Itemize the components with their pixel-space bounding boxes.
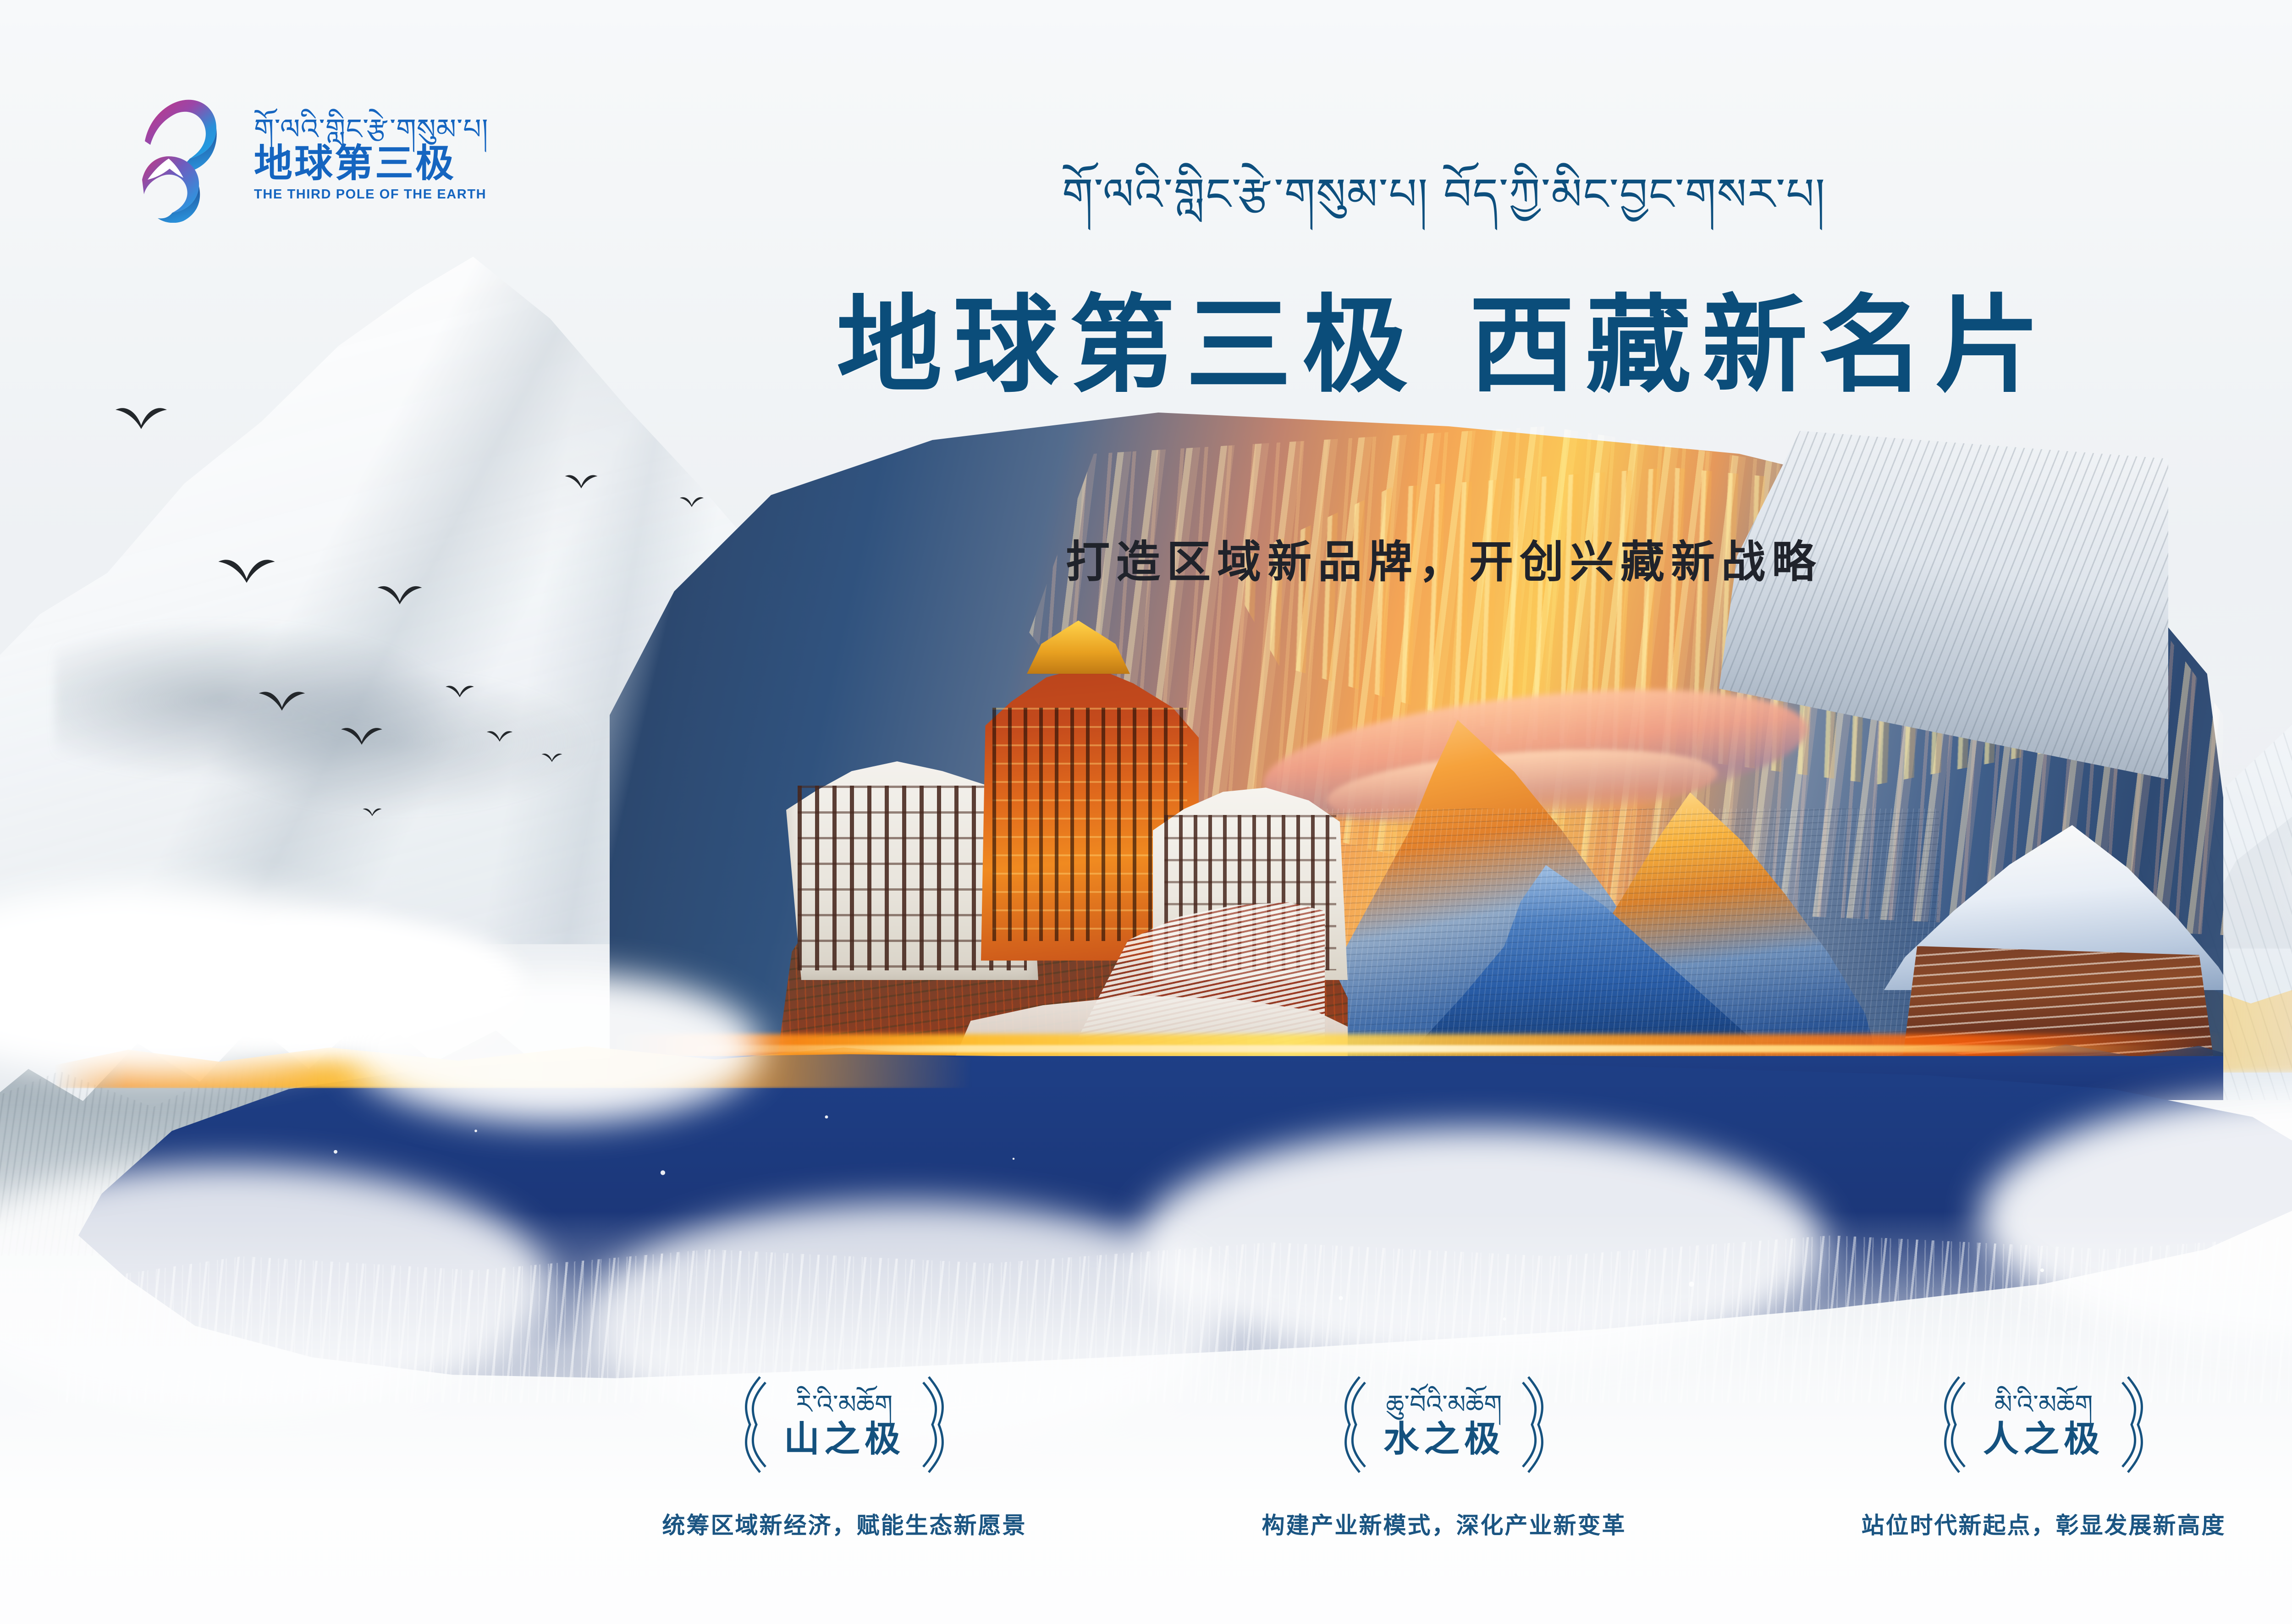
central-photo-collage	[610, 413, 2223, 1100]
cloud-icon	[348, 972, 761, 1123]
pillar-tibetan: མི་འི་མཆོག	[1994, 1392, 2093, 1418]
pillar-description: 站位时代新起点，彰显发展新高度	[1805, 1507, 2282, 1540]
flying-bird-icon	[339, 724, 384, 746]
pillar-chinese: 人之极	[1983, 1421, 2104, 1457]
pillar-description: 构建产业新模式，深化产业新变革	[1206, 1507, 1682, 1540]
wave-bracket-icon	[1326, 1374, 1368, 1475]
pillar-chinese: 水之极	[1383, 1421, 1504, 1457]
headline-tibetan: གོ་ལའི་གླིང་རྩེ་གསུམ་པ། བོད་ཀྱི་མིང་བྱང་…	[0, 145, 2292, 269]
poster-canvas: གོ་ལའི་གླིང་རྩེ་གསུམ་པ། 地球第三极 THE THIRD …	[0, 0, 2292, 1624]
pillar-labels: ཆུ་བོའི་མཆོག 水之极	[1383, 1392, 1504, 1457]
collage-fire-rim-highlight	[674, 1045, 2159, 1052]
pillar-tibetan: རི་འི་མཆོག	[796, 1392, 893, 1418]
pillar-tibetan: ཆུ་བོའི་མཆོག	[1386, 1392, 1502, 1418]
potala-palace	[775, 591, 1348, 1077]
pillars-row: རི་འི་མཆོག 山之极 统筹区域新经济，赋能生态新愿景 ཆུ་བོའི་མ…	[0, 1366, 2292, 1558]
page-subtitle: 打造区域新品牌，开创兴藏新战略	[0, 540, 2292, 584]
palace-golden-roof	[1027, 621, 1130, 674]
flying-bird-icon	[541, 752, 563, 763]
page-title: 地球第三极西藏新名片	[0, 293, 2292, 399]
title-part-1: 地球第三极	[837, 285, 1419, 407]
pillar-description: 统筹区域新经济，赋能生态新愿景	[606, 1507, 1083, 1540]
left-mountain-rock-texture	[55, 587, 605, 871]
wave-bracket-icon	[726, 1374, 768, 1475]
mount-everest	[1288, 688, 1939, 1091]
wave-bracket-icon	[1520, 1374, 1562, 1475]
pillar-chinese: 山之极	[784, 1421, 905, 1457]
wave-bracket-icon	[2120, 1374, 2162, 1475]
wave-bracket-icon	[920, 1374, 963, 1475]
title-part-2: 西藏新名片	[1469, 285, 2051, 407]
flying-bird-icon	[486, 729, 513, 743]
pillar-header: ཆུ་བོའི་མཆོག 水之极	[1206, 1366, 1682, 1483]
logo-tibetan-text: གོ་ལའི་གླིང་རྩེ་གསུམ་པ།	[254, 114, 489, 144]
flying-bird-icon	[564, 472, 599, 490]
pillar-labels: རི་འི་མཆོག 山之极	[784, 1392, 905, 1457]
pillar-item[interactable]: མི་འི་མཆོག 人之极 站位时代新起点，彰显发展新高度	[1805, 1366, 2282, 1558]
flying-bird-icon	[445, 683, 475, 699]
pillar-header: རི་འི་མཆོག 山之极	[606, 1366, 1083, 1483]
flying-bird-icon	[114, 403, 169, 431]
pillar-item[interactable]: ཆུ་བོའི་མཆོག 水之极 构建产业新模式，深化产业新变革	[1206, 1366, 1682, 1558]
flying-bird-icon	[376, 582, 424, 606]
wave-bracket-icon	[1925, 1374, 1967, 1475]
pillar-item[interactable]: རི་འི་མཆོག 山之极 统筹区域新经济，赋能生态新愿景	[606, 1366, 1083, 1558]
pillar-header: མི་འི་མཆོག 人之极	[1805, 1366, 2282, 1483]
cloud-icon	[1137, 1128, 1824, 1366]
flying-bird-icon	[257, 688, 307, 712]
flying-bird-icon	[362, 807, 382, 817]
flying-bird-icon	[678, 495, 705, 508]
pillar-labels: མི་འི་མཆོག 人之极	[1983, 1392, 2104, 1457]
